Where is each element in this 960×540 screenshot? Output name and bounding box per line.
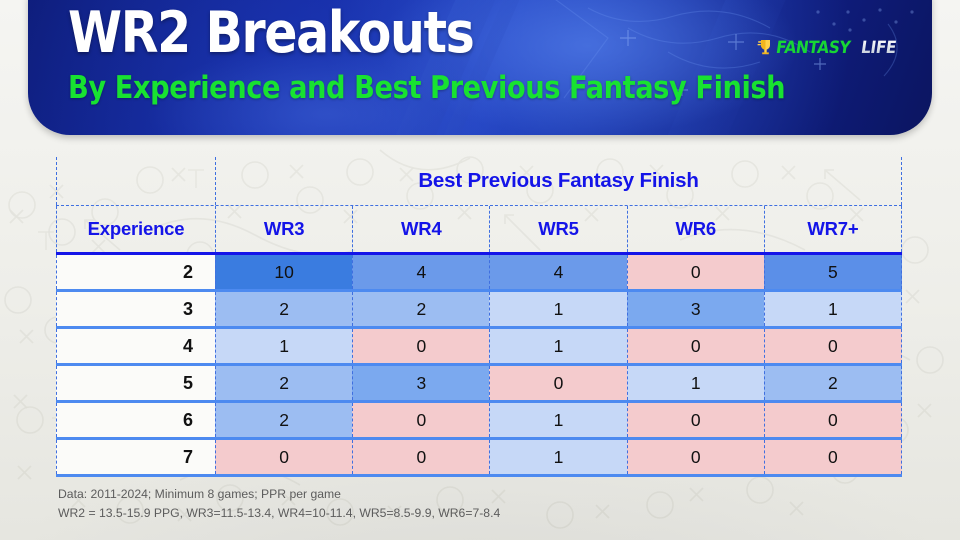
cell-exp6-wr4: 0 [352,403,489,437]
row-label-experience-7: 7 [56,440,215,474]
table-row: 620100 [56,403,902,440]
cell-exp7-wr4: 0 [352,440,489,474]
cell-exp5-wr5: 0 [489,366,626,400]
cell-exp2-wr5: 4 [489,255,626,289]
table-row: 523012 [56,366,902,403]
row-label-experience-2: 2 [56,255,215,289]
cell-exp2-wr3: 10 [215,255,352,289]
header-wr6: WR6 [627,206,764,252]
row-label-experience-3: 3 [56,292,215,326]
cell-exp7-wr3: 0 [215,440,352,474]
table-row: 2104405 [56,255,902,292]
cell-exp6-wr7+: 0 [764,403,902,437]
cell-exp3-wr5: 1 [489,292,626,326]
table-body: 2104405322131410100523012620100700100 [56,255,902,477]
cell-exp3-wr6: 3 [627,292,764,326]
cell-exp7-wr6: 0 [627,440,764,474]
header-wr4: WR4 [352,206,489,252]
cell-exp6-wr5: 1 [489,403,626,437]
cell-exp4-wr7+: 0 [764,329,902,363]
cell-exp6-wr3: 2 [215,403,352,437]
column-group-header-label: Best Previous Fantasy Finish [418,169,698,193]
cell-exp3-wr4: 2 [352,292,489,326]
supertitle-spacer [56,157,215,205]
table-row: 410100 [56,329,902,366]
logo-word-fantasy: FANTASY [775,39,852,58]
header-wr3: WR3 [215,206,352,252]
header-wr5: WR5 [489,206,626,252]
table-supertitle-row: Best Previous Fantasy Finish [56,157,902,205]
footnote-line-1: Data: 2011-2024; Minimum 8 games; PPR pe… [58,485,500,504]
cell-exp2-wr6: 0 [627,255,764,289]
cell-exp2-wr7+: 5 [764,255,902,289]
cell-exp4-wr5: 1 [489,329,626,363]
footnote-line-2: WR2 = 13.5-15.9 PPG, WR3=11.5-13.4, WR4=… [58,504,500,523]
cell-exp5-wr3: 2 [215,366,352,400]
cell-exp5-wr6: 1 [627,366,764,400]
column-group-header: Best Previous Fantasy Finish [215,157,902,205]
brand-logo[interactable]: FANTASY LIFE [757,37,900,59]
cell-exp7-wr5: 1 [489,440,626,474]
cell-exp4-wr3: 1 [215,329,352,363]
row-label-experience-4: 4 [56,329,215,363]
trophy-icon [757,39,774,58]
cell-exp3-wr3: 2 [215,292,352,326]
cell-exp7-wr7+: 0 [764,440,902,474]
header-wr7plus: WR7+ [764,206,902,252]
cell-exp5-wr4: 3 [352,366,489,400]
logo-word-life: LIFE [860,39,898,58]
data-table: Best Previous Fantasy Finish Experience … [56,157,902,477]
cell-exp3-wr7+: 1 [764,292,902,326]
row-label-experience-6: 6 [56,403,215,437]
cell-exp6-wr6: 0 [627,403,764,437]
page-title: WR2 Breakouts [68,4,769,62]
header-banner: WR2 Breakouts By Experience and Best Pre… [28,0,932,135]
cell-exp2-wr4: 4 [352,255,489,289]
footnote: Data: 2011-2024; Minimum 8 games; PPR pe… [58,485,500,522]
table-row: 700100 [56,440,902,477]
page-subtitle: By Experience and Best Previous Fantasy … [68,70,785,106]
header-experience: Experience [56,206,215,252]
row-label-experience-5: 5 [56,366,215,400]
cell-exp4-wr4: 0 [352,329,489,363]
table-row: 322131 [56,292,902,329]
cell-exp4-wr6: 0 [627,329,764,363]
cell-exp5-wr7+: 2 [764,366,902,400]
table-header-row: Experience WR3 WR4 WR5 WR6 WR7+ [56,205,902,255]
